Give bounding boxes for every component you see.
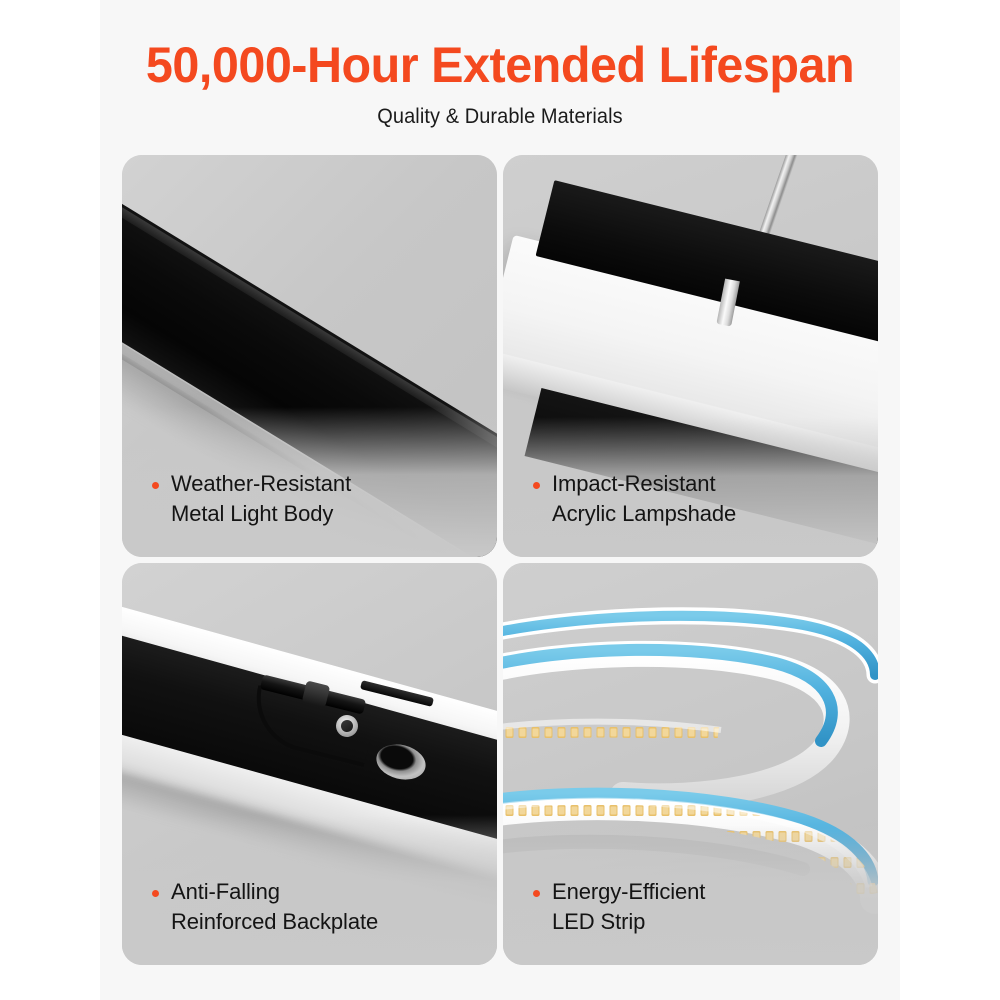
header: 50,000-Hour Extended Lifespan Quality & … <box>0 0 1000 131</box>
caption-line-primary: Weather-Resistant <box>146 469 351 499</box>
caption-line-primary: Energy-Efficient <box>527 877 705 907</box>
caption-line-primary: Anti-Falling <box>146 877 378 907</box>
caption-line-primary: Impact-Resistant <box>527 469 736 499</box>
feature-panel-weather-resistant: Weather-Resistant Metal Light Body <box>122 155 497 557</box>
panel-caption: Weather-Resistant Metal Light Body <box>146 469 351 529</box>
panel-caption: Energy-Efficient LED Strip <box>527 877 705 937</box>
panel-caption: Impact-Resistant Acrylic Lampshade <box>527 469 736 529</box>
panel-caption: Anti-Falling Reinforced Backplate <box>146 877 378 937</box>
caption-line-secondary: Reinforced Backplate <box>146 907 378 937</box>
caption-line-secondary: LED Strip <box>527 907 705 937</box>
page-subtitle: Quality & Durable Materials <box>25 103 975 131</box>
page-title: 50,000-Hour Extended Lifespan <box>15 36 985 94</box>
feature-panel-anti-falling: Anti-Falling Reinforced Backplate <box>122 563 497 965</box>
caption-line-secondary: Metal Light Body <box>146 499 351 529</box>
feature-panel-impact-resistant: Impact-Resistant Acrylic Lampshade <box>503 155 878 557</box>
product-feature-infographic: 50,000-Hour Extended Lifespan Quality & … <box>0 0 1000 1000</box>
feature-grid: Weather-Resistant Metal Light Body Impac… <box>122 155 878 965</box>
feature-panel-energy-efficient: Energy-Efficient LED Strip <box>503 563 878 965</box>
caption-line-secondary: Acrylic Lampshade <box>527 499 736 529</box>
